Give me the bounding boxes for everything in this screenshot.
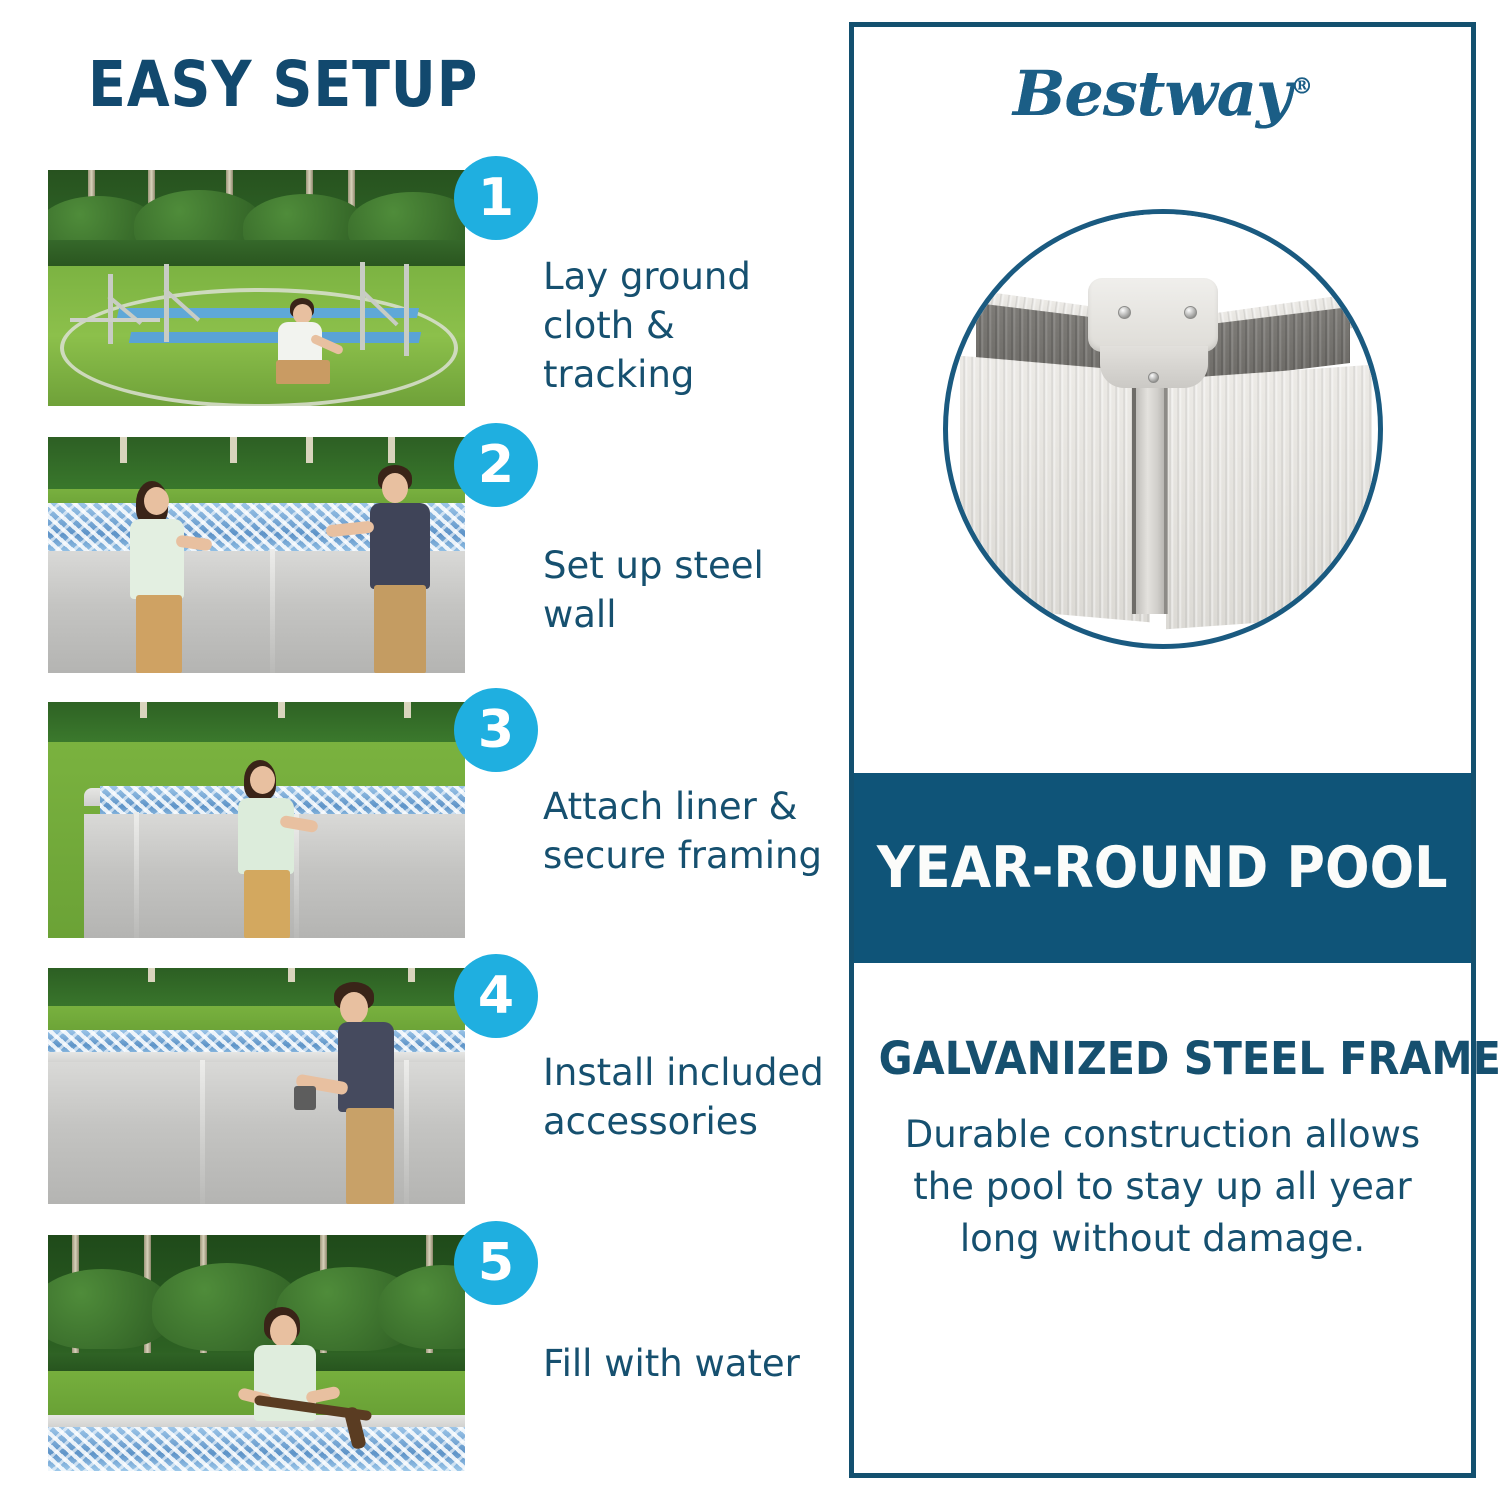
setup-step-2: 2 Set up steel wall (0, 437, 840, 687)
feature-panel: Bestway® (849, 22, 1476, 1478)
step-photo-3 (48, 702, 465, 938)
setup-step-1: 1 Lay ground cloth & tracking (0, 170, 840, 420)
step-label-5: Fill with water (543, 1339, 828, 1388)
galvanized-steel-frame-body: Durable construction allows the pool to … (896, 1109, 1429, 1265)
step-badge-2: 2 (454, 423, 538, 507)
year-round-pool-title: YEAR-ROUND POOL (877, 835, 1448, 901)
step-label-3: Attach liner & secure framing (543, 782, 828, 880)
step-photo-5 (48, 1235, 465, 1471)
easy-setup-column: EASY SETUP (0, 0, 840, 1500)
screw-icon-right (1184, 306, 1197, 319)
step-photo-4 (48, 968, 465, 1204)
detail-circle-ring (943, 209, 1383, 649)
step-badge-4: 4 (454, 954, 538, 1038)
step-label-2: Set up steel wall (543, 541, 828, 639)
screw-icon-lower (1148, 372, 1159, 383)
year-round-pool-band: YEAR-ROUND POOL (854, 773, 1471, 963)
setup-step-3: 3 Attach liner & secure framing (0, 702, 840, 952)
setup-step-5: 5 Fill with water (0, 1235, 840, 1485)
step-photo-1 (48, 170, 465, 406)
steel-frame-detail-callout (943, 209, 1383, 649)
step-label-1: Lay ground cloth & tracking (543, 252, 828, 399)
galvanized-steel-frame-heading: GALVANIZED STEEL FRAME (879, 1032, 1447, 1085)
step-badge-1: 1 (454, 156, 538, 240)
pool-corner-illustration (948, 214, 1378, 644)
setup-step-4: 4 Install included accessories (0, 968, 840, 1218)
step-badge-5: 5 (454, 1221, 538, 1305)
registered-trademark-icon: ® (1291, 73, 1312, 99)
step-photo-2 (48, 437, 465, 673)
infographic-page: EASY SETUP (0, 0, 1500, 1500)
step-badge-3: 3 (454, 688, 538, 772)
bestway-logo-text: Bestway (1013, 57, 1291, 130)
step-label-4: Install included accessories (543, 1048, 828, 1146)
bestway-logo: Bestway® (854, 57, 1471, 130)
screw-icon-left (1118, 306, 1131, 319)
page-title: EASY SETUP (88, 48, 478, 121)
